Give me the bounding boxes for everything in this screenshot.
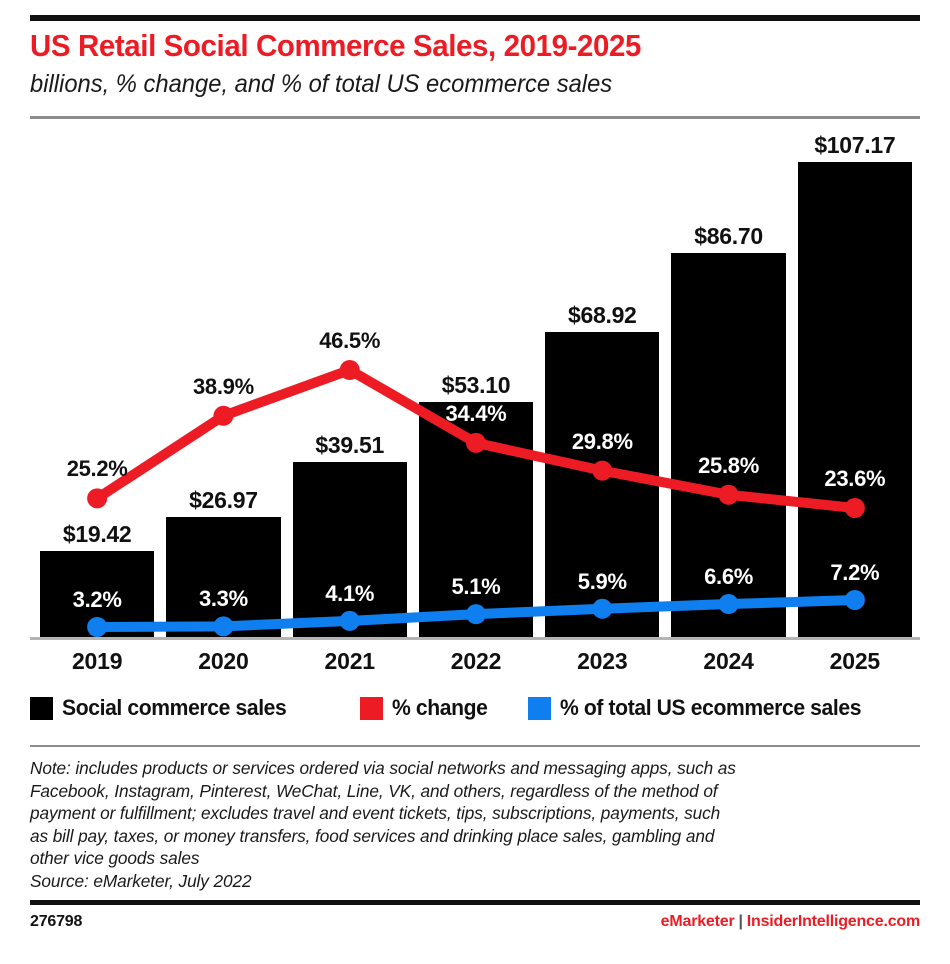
bar-value-label-2025: $107.17 [792, 132, 918, 159]
note-line-3: as bill pay, taxes, or money transfers, … [30, 825, 912, 848]
pct-of-total-label-2023: 5.9% [539, 569, 665, 595]
pct-of-total-label-2025: 7.2% [792, 560, 918, 586]
bar-value-label-2024: $86.70 [665, 223, 791, 250]
footer-brand-separator: | [734, 913, 746, 930]
pct-of-total-label-2020: 3.3% [160, 586, 286, 612]
note-rule [30, 745, 920, 747]
chart-sheet: US Retail Social Commerce Sales, 2019-20… [0, 0, 950, 964]
pct-of-total-line-marker-2019 [87, 617, 107, 637]
note-line-0: Note: includes products or services orde… [30, 757, 912, 780]
bar-value-label-2019: $19.42 [34, 521, 160, 548]
pct-of-total-line-marker-2025 [845, 590, 865, 610]
chart-legend: Social commerce sales% change% of total … [30, 693, 930, 725]
pct-change-line-marker-2020 [213, 406, 233, 426]
bar-value-label-2021: $39.51 [287, 432, 413, 459]
pct-of-total-label-2019: 3.2% [34, 587, 160, 613]
bar-value-label-2022: $53.10 [413, 372, 539, 399]
legend-label-1: % change [392, 695, 488, 721]
pct-change-line-marker-2024 [719, 485, 739, 505]
legend-swatch-icon-0 [30, 697, 53, 720]
pct-of-total-line-marker-2024 [719, 594, 739, 614]
note-line-5: Source: eMarketer, July 2022 [30, 870, 912, 893]
footer-brand-site: InsiderIntelligence.com [747, 913, 920, 930]
pct-change-label-2025: 23.6% [792, 466, 918, 492]
bar-value-label-2023: $68.92 [539, 302, 665, 329]
note-line-1: Facebook, Instagram, Pinterest, WeChat, … [30, 780, 912, 803]
footer-chart-id: 276798 [30, 913, 82, 931]
pct-of-total-line-marker-2020 [213, 616, 233, 636]
legend-swatch-icon-1 [360, 697, 383, 720]
note-line-2: payment or fulfillment; excludes travel … [30, 802, 912, 825]
legend-item-1[interactable]: % change [360, 693, 492, 723]
pct-of-total-label-2024: 6.6% [665, 564, 791, 590]
footer-rule [30, 900, 920, 905]
pct-change-label-2021: 46.5% [287, 328, 413, 354]
pct-change-line-marker-2025 [845, 498, 865, 518]
pct-of-total-line-marker-2021 [340, 611, 360, 631]
legend-label-2: % of total US ecommerce sales [560, 695, 861, 721]
x-axis-label-2025: 2025 [792, 648, 918, 675]
chart-note: Note: includes products or services orde… [30, 757, 925, 892]
pct-change-line-marker-2023 [592, 461, 612, 481]
pct-of-total-label-2021: 4.1% [287, 581, 413, 607]
pct-change-line-marker-2019 [87, 488, 107, 508]
pct-change-line-marker-2022 [466, 433, 486, 453]
x-axis-label-2021: 2021 [287, 648, 413, 675]
bar-value-label-2020: $26.97 [160, 487, 286, 514]
x-axis-label-2024: 2024 [665, 648, 791, 675]
x-axis-label-2022: 2022 [413, 648, 539, 675]
legend-swatch-icon-2 [528, 697, 551, 720]
chart-plot-area: $19.423.2%25.2%$26.973.3%38.9%$39.514.1%… [0, 0, 950, 700]
legend-item-0[interactable]: Social commerce sales [30, 693, 296, 723]
pct-change-label-2022: 34.4% [413, 401, 539, 427]
x-axis-label-2020: 2020 [160, 648, 286, 675]
pct-of-total-line-marker-2023 [592, 599, 612, 619]
pct-of-total-line-marker-2022 [466, 604, 486, 624]
legend-item-2[interactable]: % of total US ecommerce sales [528, 693, 874, 723]
pct-change-label-2023: 29.8% [539, 429, 665, 455]
pct-change-label-2020: 38.9% [160, 374, 286, 400]
pct-change-label-2019: 25.2% [34, 456, 160, 482]
note-line-4: other vice goods sales [30, 847, 912, 870]
pct-change-line-marker-2021 [340, 360, 360, 380]
footer-brand: eMarketer|InsiderIntelligence.com [661, 913, 920, 931]
x-axis-label-2023: 2023 [539, 648, 665, 675]
pct-change-label-2024: 25.8% [665, 453, 791, 479]
x-axis-label-2019: 2019 [34, 648, 160, 675]
legend-label-0: Social commerce sales [62, 695, 286, 721]
pct-of-total-label-2022: 5.1% [413, 574, 539, 600]
footer-brand-emarketer: eMarketer [661, 913, 735, 930]
